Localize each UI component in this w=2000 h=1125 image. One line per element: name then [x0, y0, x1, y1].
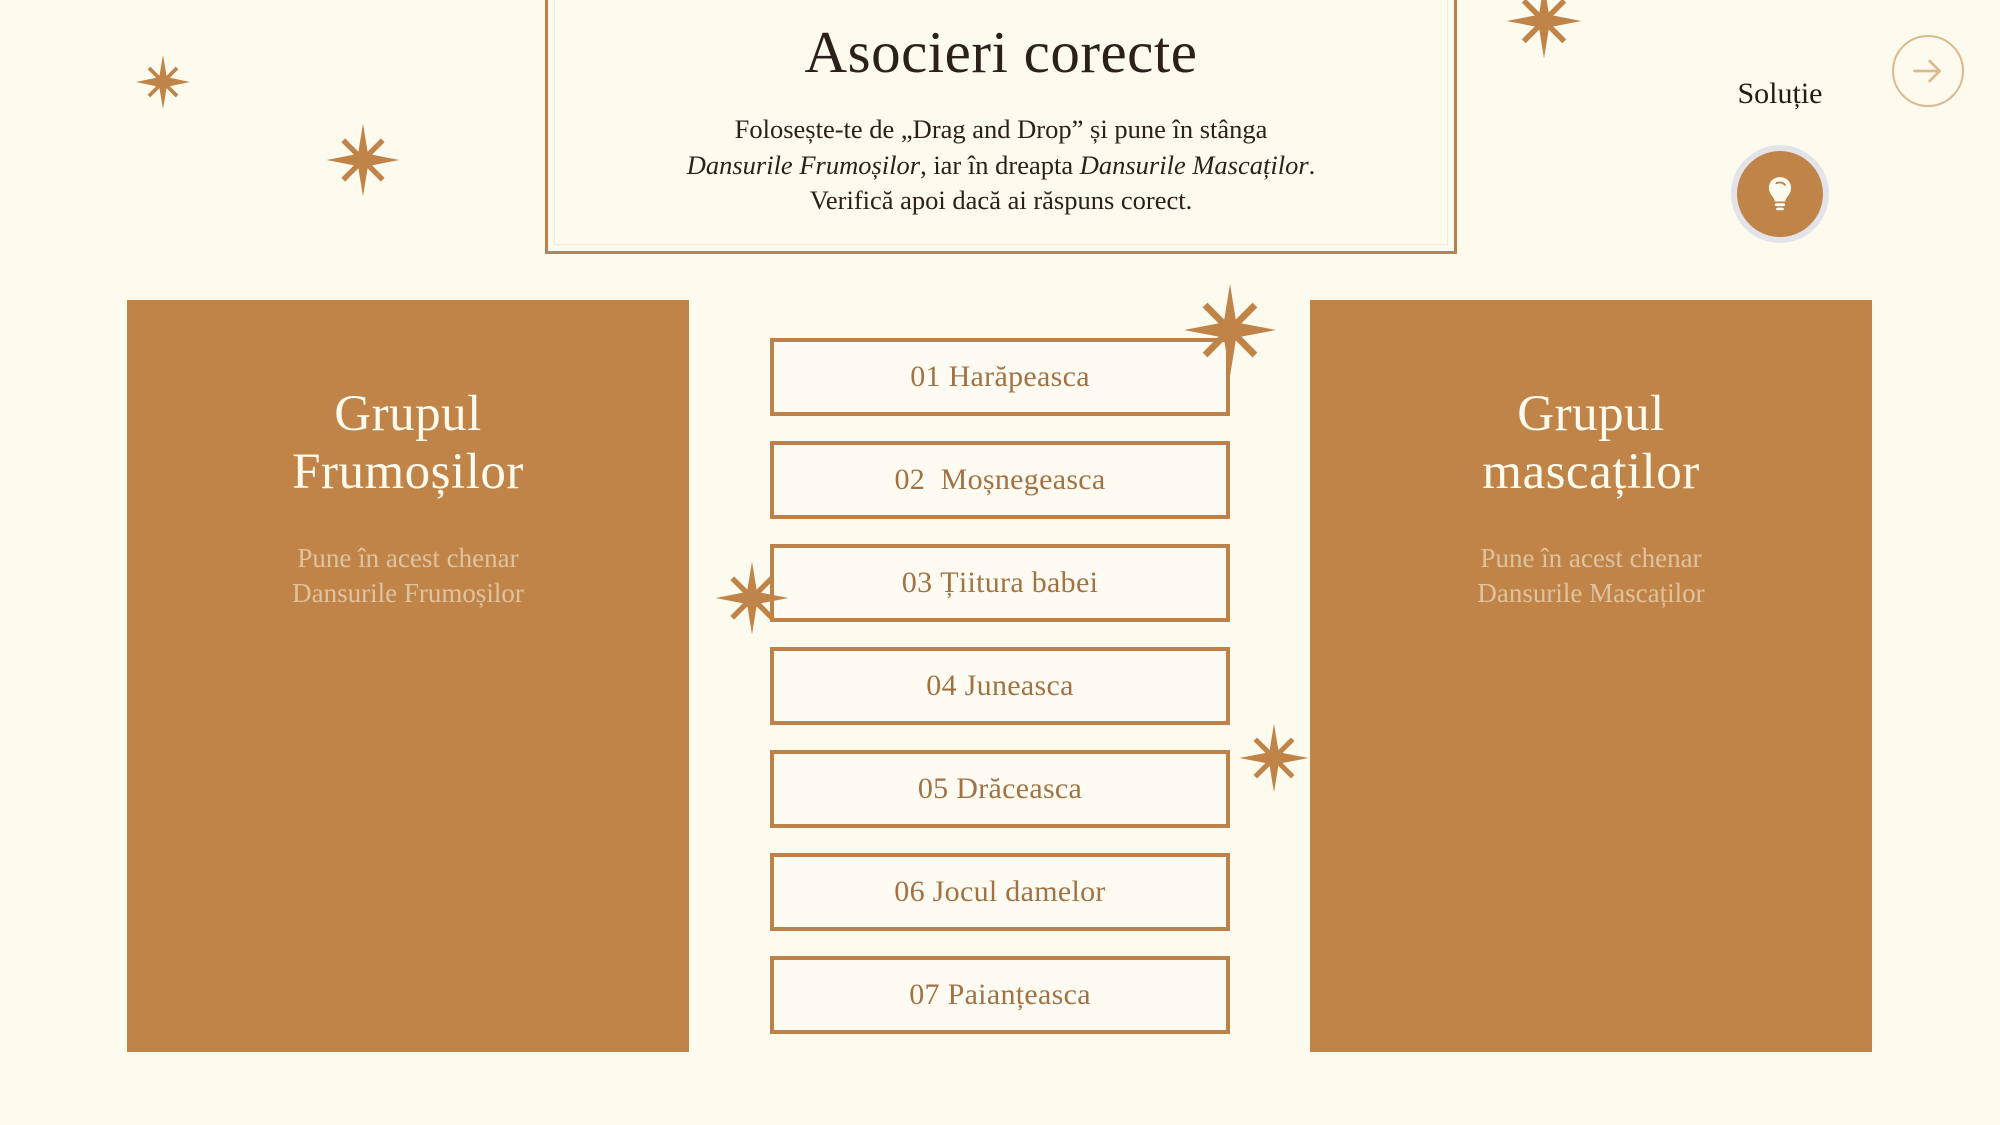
dance-card-label: 04 Juneasca [926, 669, 1073, 703]
sparkle-icon [325, 122, 401, 198]
dance-card-label: 01 Harăpeasca [910, 360, 1090, 394]
title-card-inner: Asocieri corecte Folosește-te de „Drag a… [554, 0, 1448, 245]
dance-card-label: 06 Jocul damelor [894, 875, 1105, 909]
drop-zone-frumosilor[interactable]: Grupul Frumoșilor Pune în acest chenar D… [127, 300, 689, 1052]
dance-card-label: 05 Drăceasca [918, 772, 1082, 806]
panel-right-hint-line1: Pune în acest chenar [1477, 541, 1704, 576]
panel-right-title: Grupul mascaților [1482, 386, 1699, 501]
instruction-period: . [1309, 150, 1316, 180]
dance-card-label: 03 Țiitura babei [902, 566, 1098, 600]
dance-card[interactable]: 01 Harăpeasca [770, 338, 1230, 416]
panel-right-hint-line2: Dansurile Mascaților [1477, 576, 1704, 611]
panel-right-title-line2: mascaților [1482, 444, 1699, 502]
lightbulb-icon [1757, 171, 1803, 217]
dance-card-label: 07 Paianțeasca [909, 978, 1091, 1012]
sparkle-icon [1505, 0, 1583, 60]
panel-left-title: Grupul Frumoșilor [292, 386, 524, 501]
instruction-line-1: Folosește-te de „Drag and Drop” și pune … [687, 112, 1316, 147]
dance-card[interactable]: 02 Moșnegeasca [770, 441, 1230, 519]
title-card: Asocieri corecte Folosește-te de „Drag a… [545, 0, 1457, 254]
panel-left-hint: Pune în acest chenar Dansurile Frumoșilo… [292, 541, 524, 611]
panel-left-hint-line2: Dansurile Frumoșilor [292, 576, 524, 611]
instruction-mid: , iar în dreapta [920, 150, 1080, 180]
sparkle-icon [1238, 722, 1310, 794]
instruction-emphasis-right: Dansurile Mascaților [1080, 150, 1309, 180]
instruction-text: Folosește-te de „Drag and Drop” și pune … [687, 112, 1316, 218]
dance-card[interactable]: 06 Jocul damelor [770, 853, 1230, 931]
instruction-emphasis-left: Dansurile Frumoșilor [687, 150, 920, 180]
dance-card[interactable]: 04 Juneasca [770, 647, 1230, 725]
drop-zone-mascatilor[interactable]: Grupul mascaților Pune în acest chenar D… [1310, 300, 1872, 1052]
panel-left-title-line1: Grupul [292, 386, 524, 444]
panel-right-title-line1: Grupul [1482, 386, 1699, 444]
dance-card-label: 02 Moșnegeasca [894, 463, 1105, 497]
arrow-right-icon [1908, 51, 1948, 91]
panel-left-hint-line1: Pune în acest chenar [292, 541, 524, 576]
instruction-line-2: Dansurile Frumoșilor, iar în dreapta Dan… [687, 148, 1316, 183]
panel-left-title-line2: Frumoșilor [292, 444, 524, 502]
solution-button[interactable] [1731, 145, 1829, 243]
slide-canvas: Grupul Frumoșilor Pune în acest chenar D… [0, 0, 2000, 1125]
instruction-line-3: Verifică apoi dacă ai răspuns corect. [687, 183, 1316, 218]
dance-card[interactable]: 07 Paianțeasca [770, 956, 1230, 1034]
panel-right-hint: Pune în acest chenar Dansurile Mascațilo… [1477, 541, 1704, 611]
next-slide-button[interactable] [1892, 35, 1964, 107]
dance-card[interactable]: 03 Țiitura babei [770, 544, 1230, 622]
page-title: Asocieri corecte [805, 23, 1198, 82]
solution-label: Soluție [1670, 77, 1890, 111]
dance-card-list: 01 Harăpeasca 02 Moșnegeasca 03 Țiitura … [770, 338, 1230, 1059]
sparkle-icon [136, 55, 190, 109]
dance-card[interactable]: 05 Drăceasca [770, 750, 1230, 828]
